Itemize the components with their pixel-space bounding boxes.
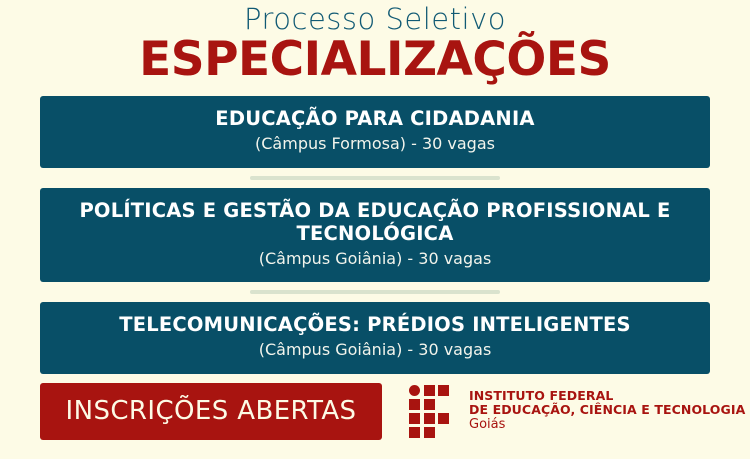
poster-footer: INSCRIÇÕES ABERTAS INSTITUTO FEDERAL DE … (0, 380, 750, 442)
logo-square-icon (438, 385, 449, 396)
logo-circle-icon (409, 385, 420, 396)
header-kicker: Processo Seletivo (0, 4, 750, 34)
logo-line-1: INSTITUTO FEDERAL (469, 389, 745, 403)
if-goias-logo: INSTITUTO FEDERAL DE EDUCAÇÃO, CIÊNCIA E… (409, 385, 745, 438)
logo-wordmark: INSTITUTO FEDERAL DE EDUCAÇÃO, CIÊNCIA E… (469, 389, 745, 433)
logo-square-icon (409, 399, 420, 410)
logo-line-2: DE EDUCAÇÃO, CIÊNCIA E TECNOLOGIA (469, 403, 745, 417)
course-list: EDUCAÇÃO PARA CIDADANIA (Câmpus Formosa)… (0, 96, 750, 374)
course-title: EDUCAÇÃO PARA CIDADANIA (58, 107, 692, 130)
page-title: ESPECIALIZAÇÕES (0, 35, 750, 84)
inscricoes-abertas-button[interactable]: INSCRIÇÕES ABERTAS (40, 383, 382, 440)
divider-wrap-1 (0, 168, 750, 188)
divider-wrap-2 (0, 282, 750, 302)
course-subtitle: (Câmpus Goiânia) - 30 vagas (58, 340, 692, 361)
logo-square-icon (409, 427, 420, 438)
course-title: POLÍTICAS E GESTÃO DA EDUCAÇÃO PROFISSIO… (58, 199, 692, 245)
logo-square-icon (424, 385, 435, 396)
section-divider (250, 176, 500, 180)
logo-square-icon (409, 413, 420, 424)
course-card-3[interactable]: TELECOMUNICAÇÕES: PRÉDIOS INTELIGENTES (… (40, 302, 710, 374)
course-title: TELECOMUNICAÇÕES: PRÉDIOS INTELIGENTES (58, 313, 692, 336)
logo-square-icon (424, 413, 435, 424)
logo-square-icon (424, 399, 435, 410)
instituto-federal-mark-icon (409, 385, 457, 438)
poster-header: Processo Seletivo ESPECIALIZAÇÕES (0, 0, 750, 85)
logo-square-icon (438, 413, 449, 424)
section-divider (250, 290, 500, 294)
logo-square-icon (424, 427, 435, 438)
course-card-2[interactable]: POLÍTICAS E GESTÃO DA EDUCAÇÃO PROFISSIO… (40, 188, 710, 283)
logo-line-3: Goiás (469, 418, 745, 433)
course-card-1[interactable]: EDUCAÇÃO PARA CIDADANIA (Câmpus Formosa)… (40, 96, 710, 168)
poster-root: Processo Seletivo ESPECIALIZAÇÕES EDUCAÇ… (0, 0, 750, 459)
course-subtitle: (Câmpus Formosa) - 30 vagas (58, 134, 692, 155)
course-subtitle: (Câmpus Goiânia) - 30 vagas (58, 249, 692, 270)
